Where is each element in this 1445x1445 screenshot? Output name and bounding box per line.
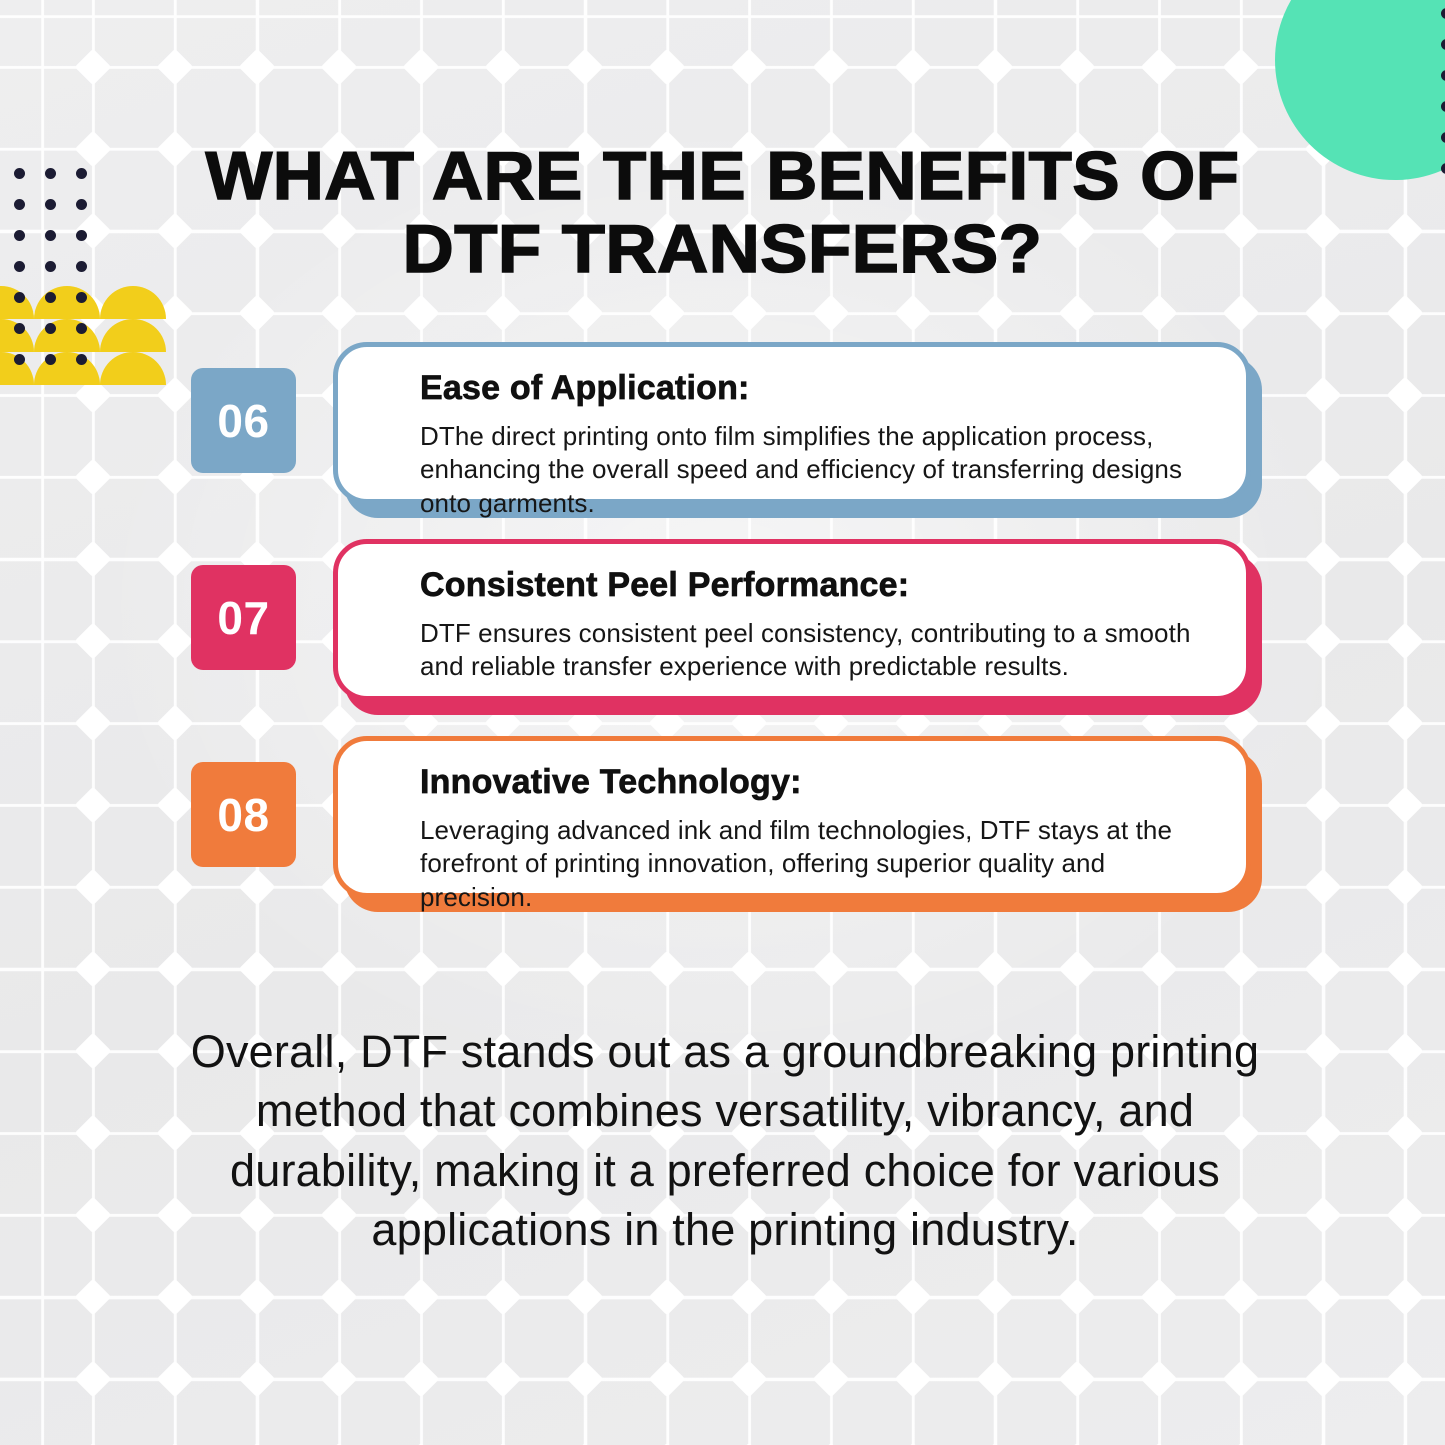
benefit-card: Innovative Technology:Leveraging advance… xyxy=(333,736,1251,898)
benefit-description: DTF ensures consistent peel consistency,… xyxy=(420,617,1212,684)
benefit-heading: Innovative Technology: xyxy=(420,763,1212,802)
benefit-card-body: Innovative Technology:Leveraging advance… xyxy=(333,736,1251,898)
infographic-poster: WHAT ARE THE BENEFITS OF DTF TRANSFERS? … xyxy=(0,0,1445,1445)
benefit-card: Ease of Application:DThe direct printing… xyxy=(333,342,1251,504)
benefit-number-badge: 06 xyxy=(191,368,296,473)
teal-circle-decoration xyxy=(1275,0,1445,180)
benefit-card: Consistent Peel Performance:DTF ensures … xyxy=(333,539,1251,701)
benefit-card-body: Consistent Peel Performance:DTF ensures … xyxy=(333,539,1251,701)
benefit-description: DThe direct printing onto film simplifie… xyxy=(420,420,1212,520)
benefit-number-badge: 07 xyxy=(191,565,296,670)
benefit-row: 07Consistent Peel Performance:DTF ensure… xyxy=(0,539,1445,736)
benefit-list: 06Ease of Application:DThe direct printi… xyxy=(0,342,1445,933)
benefit-row: 08Innovative Technology:Leveraging advan… xyxy=(0,736,1445,933)
benefit-number-badge: 08 xyxy=(191,762,296,867)
benefit-row: 06Ease of Application:DThe direct printi… xyxy=(0,342,1445,539)
benefit-heading: Ease of Application: xyxy=(420,369,1212,408)
closing-paragraph: Overall, DTF stands out as a groundbreak… xyxy=(185,1022,1265,1260)
benefit-card-body: Ease of Application:DThe direct printing… xyxy=(333,342,1251,504)
page-title: WHAT ARE THE BENEFITS OF DTF TRANSFERS? xyxy=(153,140,1292,287)
benefit-description: Leveraging advanced ink and film technol… xyxy=(420,814,1212,914)
benefit-heading: Consistent Peel Performance: xyxy=(420,566,1212,605)
